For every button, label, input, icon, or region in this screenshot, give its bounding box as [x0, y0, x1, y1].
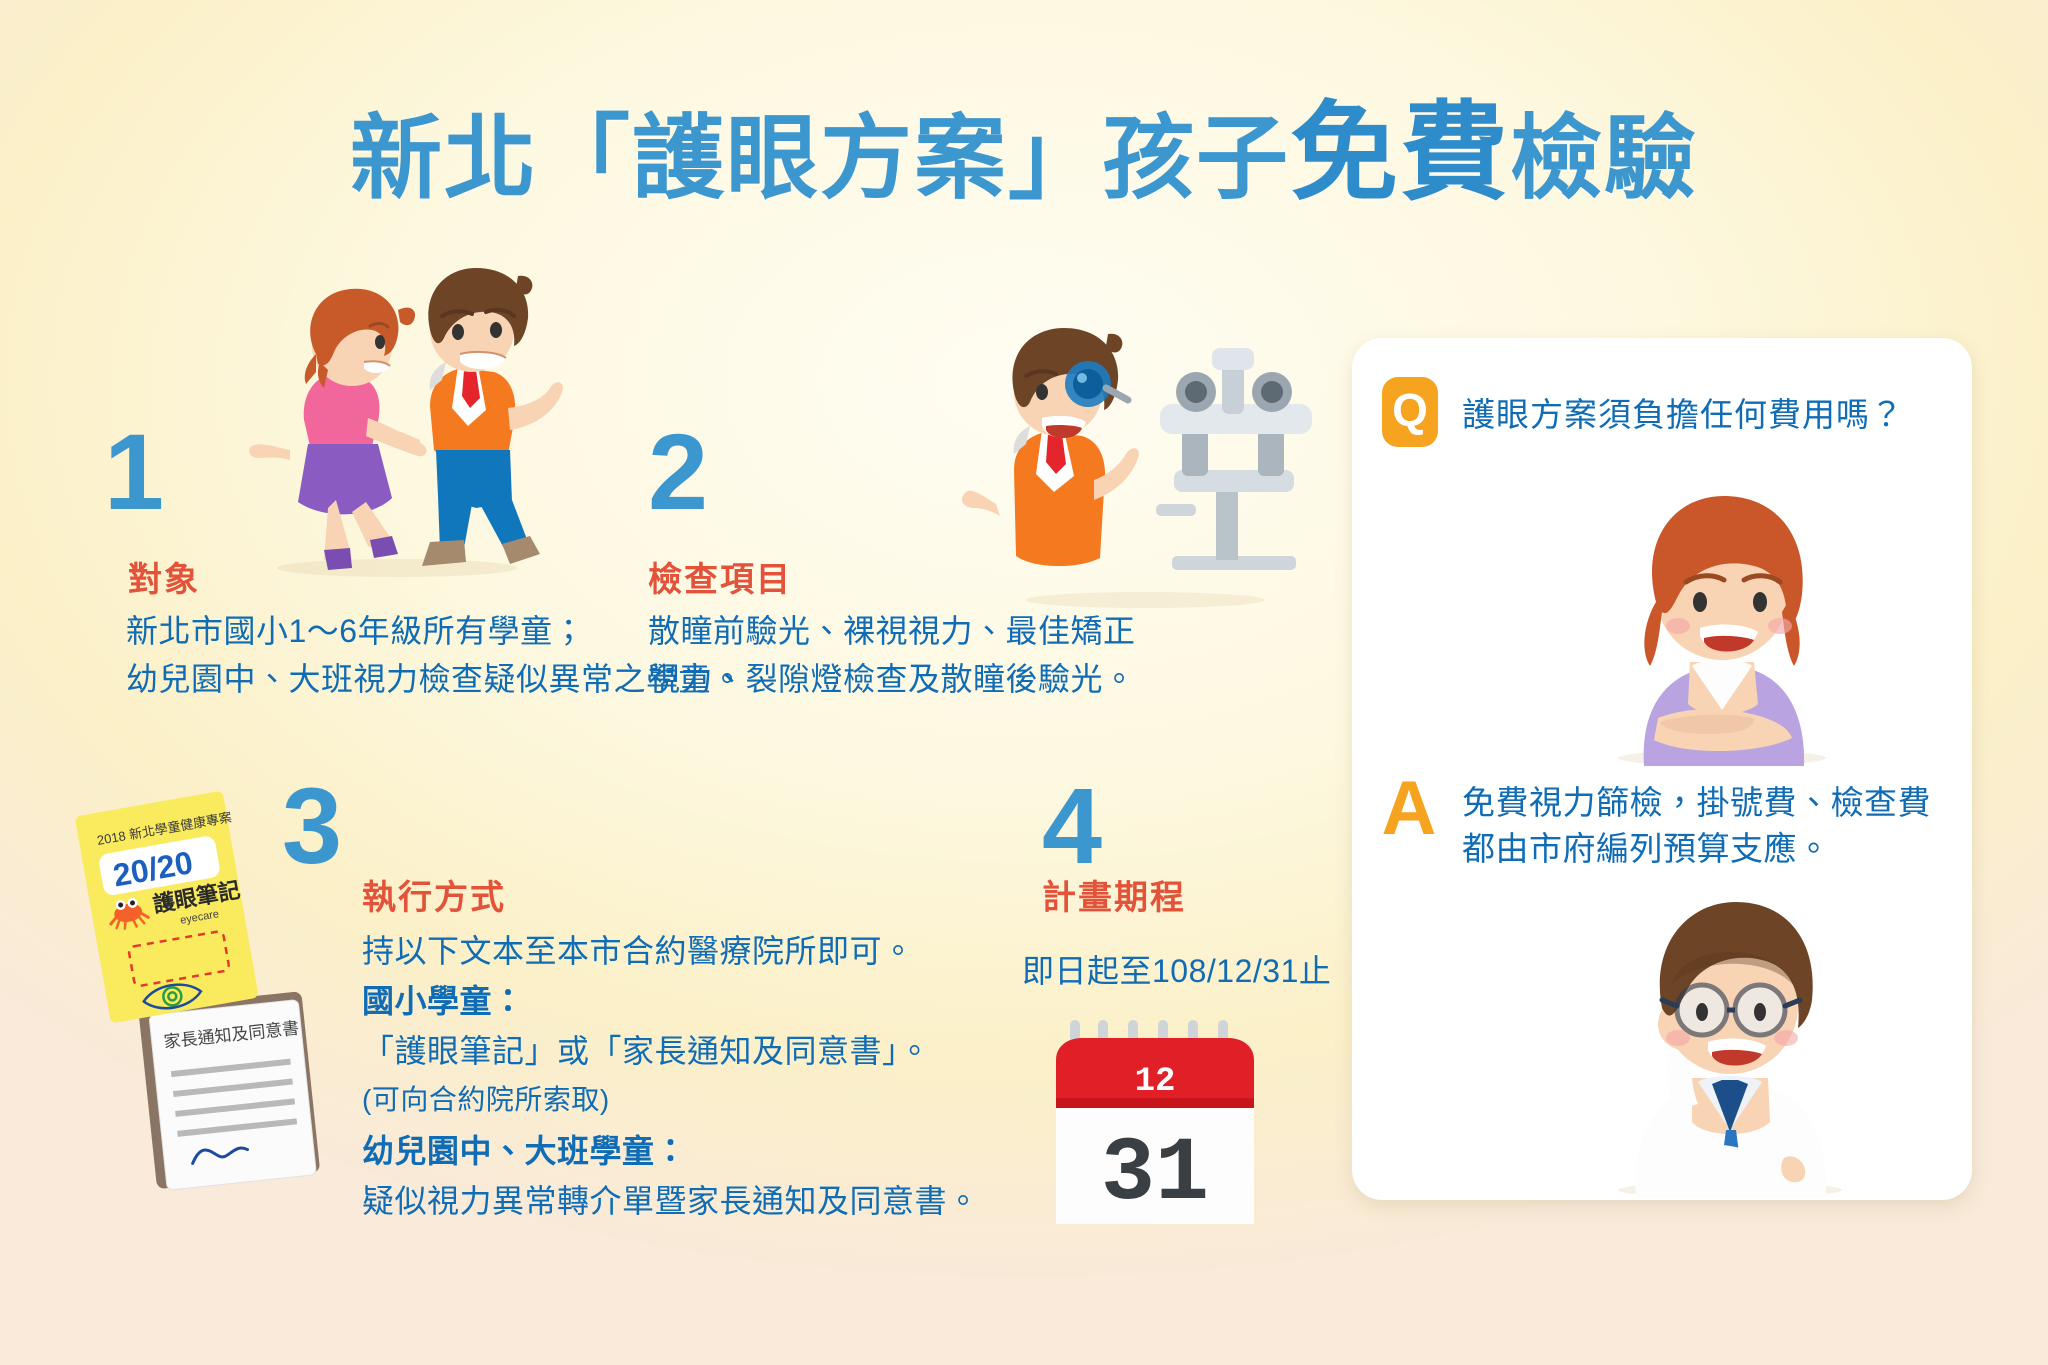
section-3-line-1: 持以下文本至本市合約醫療院所即可。 [362, 928, 915, 974]
infographic-root: 新北「護眼方案」孩子免費檢驗 [0, 0, 2048, 1365]
question-badge-icon: Q [1382, 377, 1438, 447]
calendar-month: 12 [1135, 1063, 1176, 1101]
page-title-suffix: 檢驗 [1510, 108, 1698, 210]
page-title-prefix: 新北「護眼方案」孩子 [350, 108, 1290, 210]
page-title: 新北「護眼方案」孩子免費檢驗 [0, 96, 2048, 209]
section-3-label: 執行方式 [362, 870, 506, 919]
doctor-illustration [1580, 858, 1880, 1198]
section-2-number: 2 [648, 418, 706, 526]
running-children-illustration [232, 250, 562, 580]
question-badge-label: Q [1382, 377, 1438, 447]
section-1-number: 1 [104, 418, 162, 526]
calendar-day: 31 [1101, 1124, 1209, 1226]
section-3-line-3: 「護眼筆記」或「家長通知及同意書」。 [362, 1028, 931, 1074]
answer-badge-icon: A [1378, 772, 1440, 846]
section-1-line-1: 新北市國小1～6年級所有學童； [126, 608, 585, 654]
section-3-line-6: 疑似視力異常轉介單暨家長通知及同意書。 [362, 1178, 980, 1224]
section-3-line-5: 幼兒園中、大班學童： [362, 1128, 687, 1174]
eye-exam-illustration [960, 318, 1330, 608]
calendar-icon: 12 31 [1050, 1020, 1260, 1235]
section-2-line-1: 散瞳前驗光、裸視視力、最佳矯正 [648, 608, 1136, 654]
question-text: 護眼方案須負擔任何費用嗎？ [1462, 388, 1904, 436]
section-3-number: 3 [282, 772, 340, 880]
answer-line-1: 免費視力篩檢，掛號費、檢查費 [1462, 780, 1931, 826]
woman-illustration [1582, 466, 1862, 766]
section-1-label: 對象 [128, 552, 200, 601]
section-2-label: 檢查項目 [648, 552, 792, 601]
section-4-line-1: 即日起至108/12/31止 [1022, 948, 1331, 994]
page-title-highlight: 免費 [1290, 92, 1510, 213]
section-4-label: 計畫期程 [1042, 870, 1186, 919]
section-4-number: 4 [1042, 772, 1100, 880]
section-3-line-2: 國小學童： [362, 978, 525, 1024]
section-2-line-2: 視力、裂隙燈檢查及散瞳後驗光。 [648, 656, 1136, 702]
section-3-line-4: (可向合約院所索取) [362, 1080, 610, 1121]
